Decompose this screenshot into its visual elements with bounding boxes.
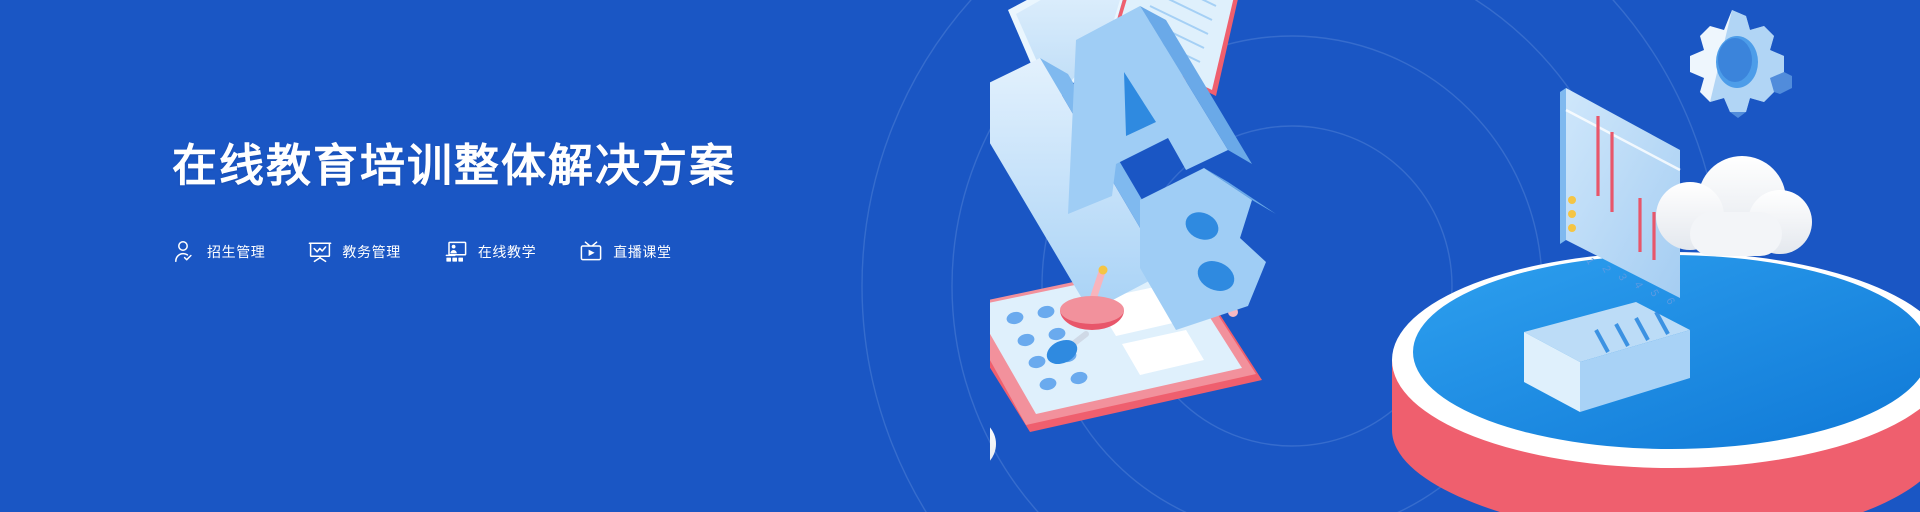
cloud-left bbox=[990, 400, 996, 470]
feature-item-enrollment[interactable]: 招生管理 bbox=[172, 239, 265, 265]
banner-copy-block: 在线教育培训整体解决方案 招生管理 bbox=[172, 140, 872, 265]
feature-label: 直播课堂 bbox=[613, 242, 671, 262]
page-title: 在线教育培训整体解决方案 bbox=[172, 140, 872, 192]
feature-label: 教务管理 bbox=[342, 242, 400, 262]
presentation-chart-icon bbox=[307, 239, 333, 265]
education-solution-banner: 1 2 3 4 5 6 bbox=[0, 0, 1920, 512]
classroom-teaching-icon bbox=[443, 239, 469, 265]
gear-icon-3d bbox=[1690, 10, 1792, 118]
illustration-artwork: 1 2 3 4 5 6 bbox=[990, 0, 1920, 512]
feature-label: 招生管理 bbox=[207, 242, 265, 262]
user-check-icon bbox=[172, 239, 198, 265]
feature-item-online-teaching[interactable]: 在线教学 bbox=[443, 239, 536, 265]
feature-item-live-classroom[interactable]: 直播课堂 bbox=[578, 239, 671, 265]
feature-item-academic-affairs[interactable]: 教务管理 bbox=[307, 239, 400, 265]
feature-label: 在线教学 bbox=[478, 242, 536, 262]
feature-list: 招生管理 教务管理 bbox=[172, 239, 872, 265]
live-video-icon bbox=[578, 239, 604, 265]
